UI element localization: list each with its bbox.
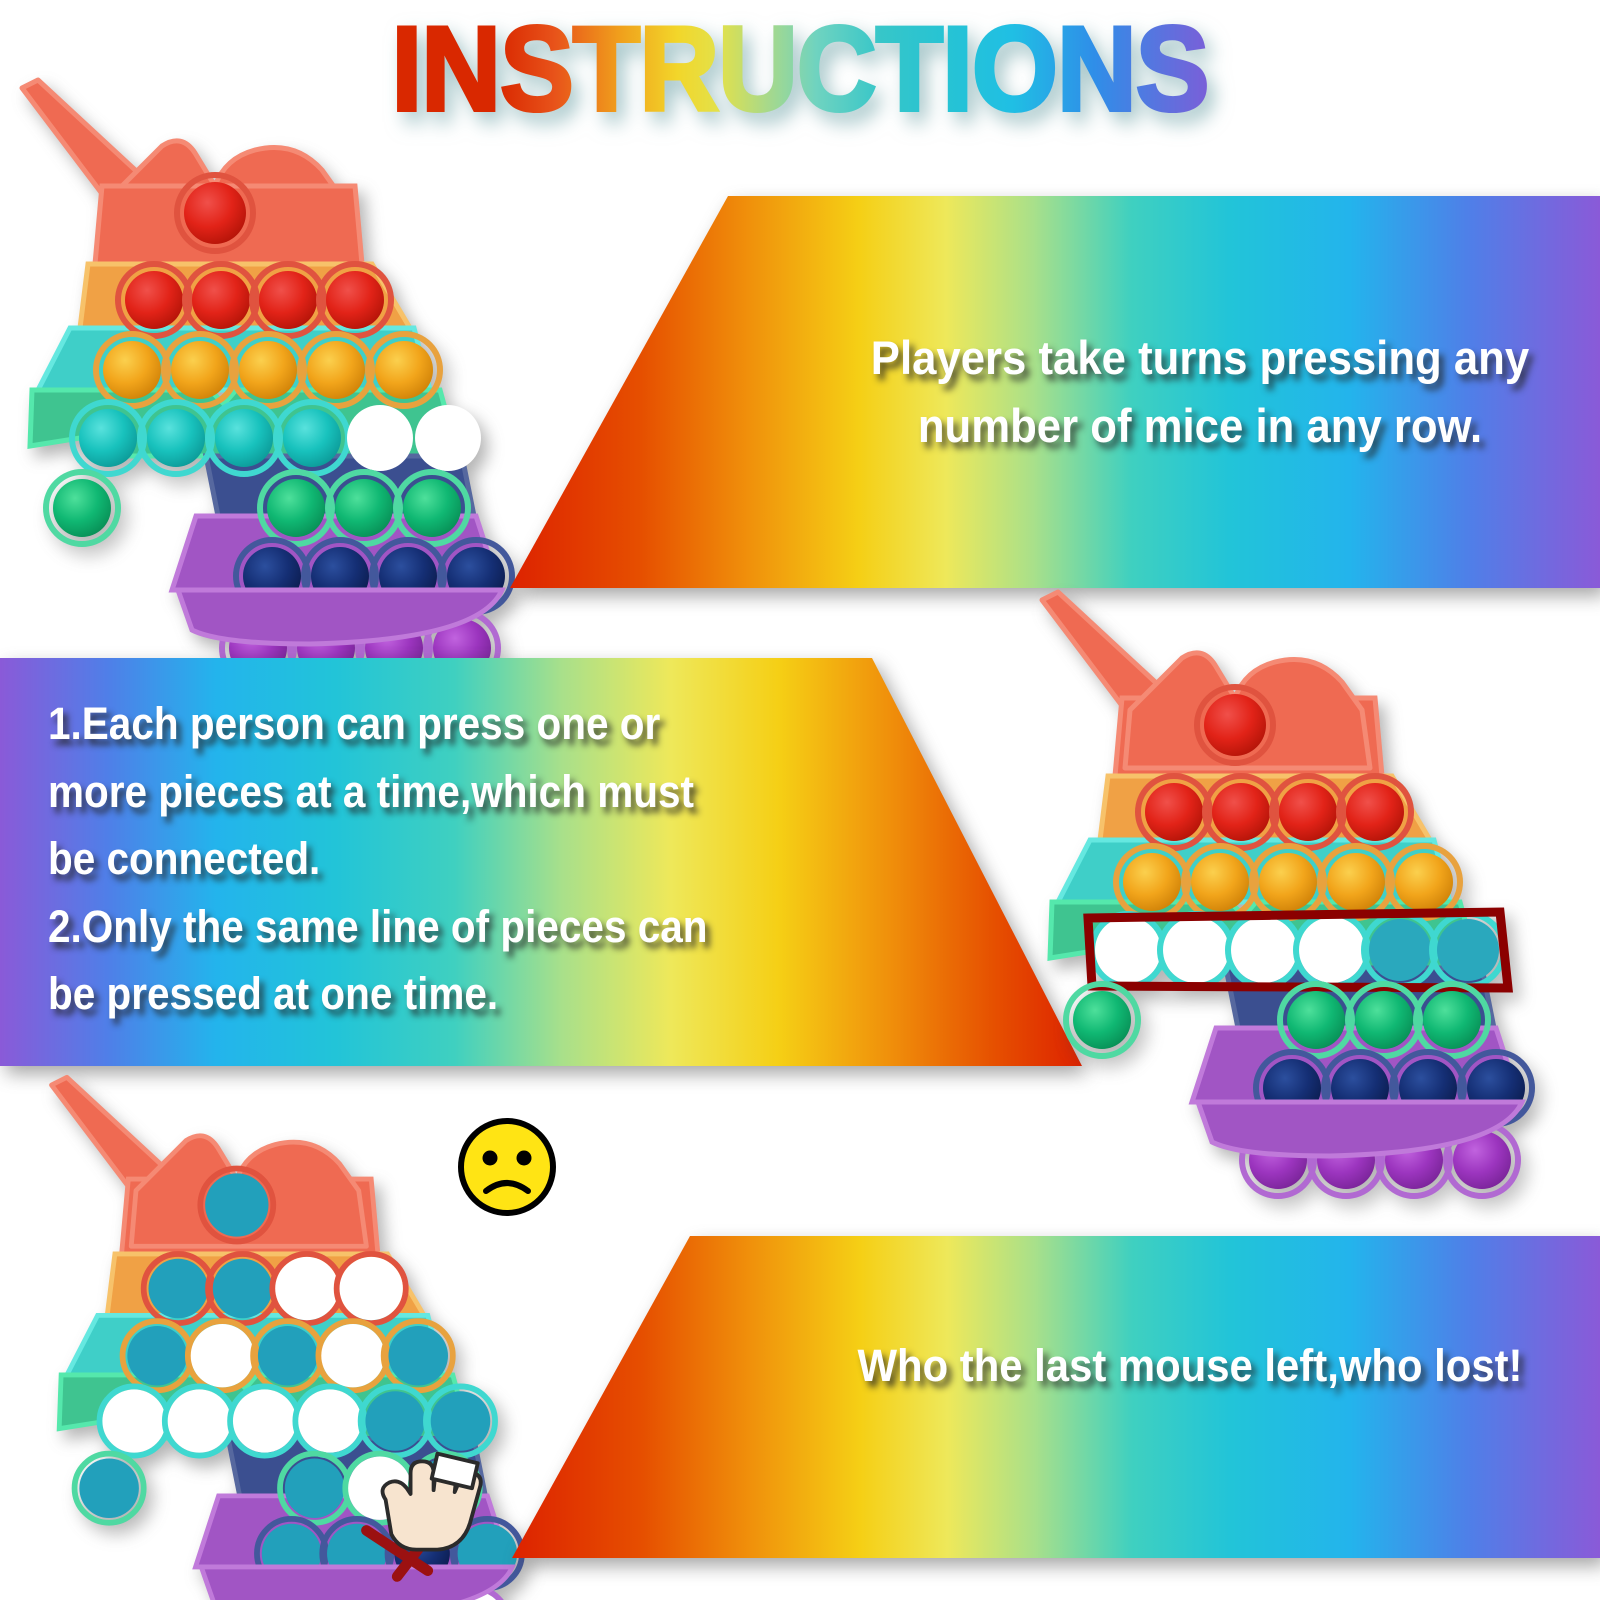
bubble[interactable] (1212, 783, 1270, 841)
panel-3-text: Who the last mouse left,who lost! (781, 1334, 1599, 1397)
bubble[interactable] (1287, 991, 1345, 1049)
bubble[interactable] (213, 1259, 273, 1319)
bubble[interactable] (431, 1391, 491, 1451)
bubble[interactable] (1123, 853, 1181, 911)
bubble-popped[interactable] (233, 1389, 296, 1452)
emoji-face (461, 1121, 553, 1213)
bubble[interactable] (1204, 694, 1266, 756)
bubble[interactable] (184, 182, 246, 244)
bubble-row-green (260, 472, 468, 544)
bubble-row-green-left (46, 472, 118, 544)
bubble[interactable] (1355, 991, 1413, 1049)
panel-3-shape (500, 1236, 1600, 1558)
page-title-text: INSTRUCTIONS (392, 2, 1209, 136)
bubble-row-green-left (75, 1454, 144, 1523)
emoji-eye-left (483, 1151, 498, 1166)
bubble-popped[interactable] (102, 1389, 165, 1452)
bubble-popped[interactable] (1299, 917, 1365, 983)
bubble[interactable] (1395, 853, 1453, 911)
bubble-popped[interactable] (340, 1257, 403, 1320)
bubble[interactable] (259, 271, 317, 329)
bubble-row-orange (123, 1321, 453, 1390)
poster-canvas: INSTRUCTIONS (0, 0, 1600, 1600)
bubble-popped[interactable] (168, 1389, 231, 1452)
bubble[interactable] (285, 1458, 345, 1518)
bubble-popped[interactable] (347, 405, 413, 471)
bubble[interactable] (239, 341, 297, 399)
bubble[interactable] (1279, 783, 1337, 841)
bubble[interactable] (53, 479, 111, 537)
bubble[interactable] (375, 341, 433, 399)
bubble[interactable] (127, 1326, 187, 1386)
bubble[interactable] (103, 341, 161, 399)
instruction-panel-2: 1.Each person can press one or more piec… (0, 658, 1090, 1066)
bubble[interactable] (403, 479, 461, 537)
bubble[interactable] (79, 409, 137, 467)
instruction-panel-3: Who the last mouse left,who lost! (500, 1236, 1600, 1558)
bubble-row-red-top (1197, 687, 1273, 763)
bubble-row-green-left (1066, 984, 1138, 1056)
bubble-popped[interactable] (415, 405, 481, 471)
panel-2-text: 1.Each person can press one or more piec… (48, 690, 795, 1028)
bubble-popped[interactable] (1163, 917, 1229, 983)
bubble[interactable] (258, 1326, 318, 1386)
instruction-panel-1: Players take turns pressing any number o… (500, 196, 1600, 588)
bubble[interactable] (1327, 853, 1385, 911)
bubble[interactable] (1145, 783, 1203, 841)
bubble[interactable] (171, 341, 229, 399)
unicorn-popit-row-highlighted[interactable] (1020, 590, 1540, 1110)
bubble[interactable] (215, 409, 273, 467)
bubble[interactable] (147, 409, 205, 467)
unicorn-popit-endgame[interactable] (40, 1075, 520, 1575)
unicorn-popit-initial[interactable] (10, 78, 510, 598)
bubble[interactable] (388, 1326, 448, 1386)
bubble-row-red-top (177, 175, 253, 251)
sad-face-icon (455, 1115, 560, 1220)
bubble-popped[interactable] (1095, 917, 1161, 983)
bubble[interactable] (335, 479, 393, 537)
bubble-popped[interactable] (298, 1389, 361, 1452)
bubble[interactable] (1437, 919, 1499, 981)
bubble[interactable] (1346, 783, 1404, 841)
bubble-popped[interactable] (275, 1257, 338, 1320)
bubble[interactable] (326, 271, 384, 329)
bubble[interactable] (1423, 991, 1481, 1049)
bubble[interactable] (1191, 853, 1249, 911)
bubble[interactable] (125, 271, 183, 329)
bubble[interactable] (267, 479, 325, 537)
bubble[interactable] (1073, 991, 1131, 1049)
bubble[interactable] (283, 409, 341, 467)
emoji-eye-right (517, 1151, 532, 1166)
bubble[interactable] (79, 1458, 139, 1518)
bubble[interactable] (365, 1391, 425, 1451)
bubble-popped[interactable] (321, 1324, 384, 1387)
bubble-popped[interactable] (191, 1324, 254, 1387)
bubble-popped[interactable] (1231, 917, 1297, 983)
panel-1-text: Players take turns pressing any number o… (828, 324, 1572, 460)
bubble[interactable] (192, 271, 250, 329)
bubble[interactable] (205, 1173, 268, 1236)
bubble[interactable] (307, 341, 365, 399)
bubble[interactable] (1259, 853, 1317, 911)
bubble-row-red-top (200, 1169, 273, 1242)
bubble[interactable] (148, 1259, 208, 1319)
bubble-row-green (1280, 984, 1488, 1056)
bubble[interactable] (1369, 919, 1431, 981)
